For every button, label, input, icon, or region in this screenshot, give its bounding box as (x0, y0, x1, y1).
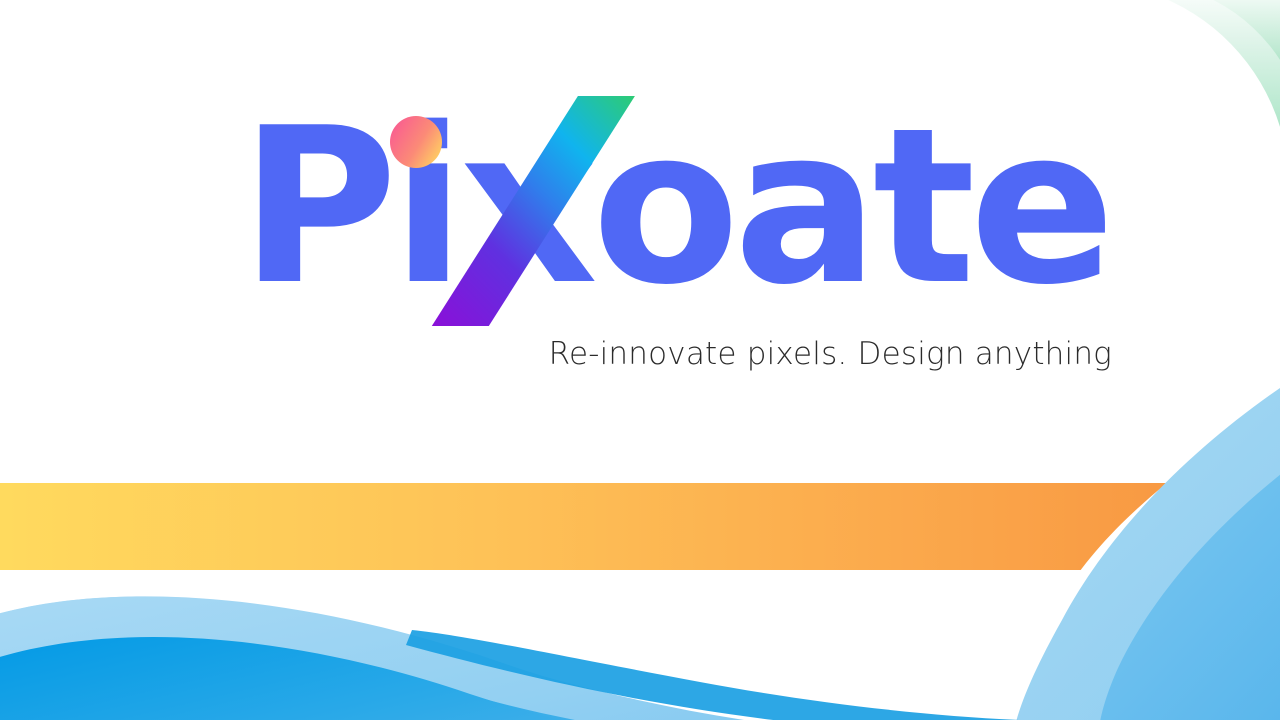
slide-canvas: Pixoate Re-innovate pixels. Design anyth… (0, 0, 1280, 720)
banner-rect (0, 483, 1280, 570)
banner-background (0, 0, 1280, 720)
